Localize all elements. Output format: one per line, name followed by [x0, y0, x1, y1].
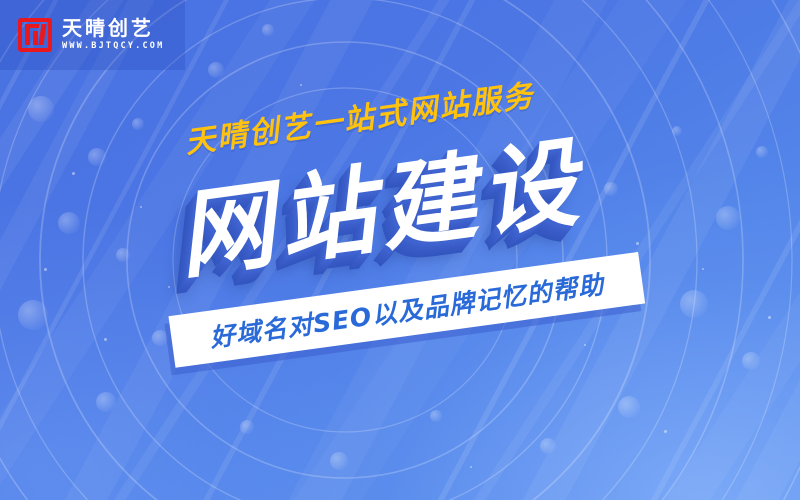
logo-website-url: WWW.BJTQCY.COM	[62, 40, 164, 52]
promo-banner: 天晴创艺 WWW.BJTQCY.COM 天晴创艺一站式网站服务 网站建设 好域名…	[0, 0, 800, 500]
tianqing-chuangyi-logo-mark-icon	[18, 18, 52, 52]
logo-text: 天晴创艺 WWW.BJTQCY.COM	[62, 18, 164, 52]
logo-brand-name: 天晴创艺	[62, 18, 164, 39]
logo-bar[interactable]: 天晴创艺 WWW.BJTQCY.COM	[0, 0, 185, 70]
headline-block: 天晴创艺一站式网站服务 网站建设 好域名对SEO以及品牌记忆的帮助	[0, 0, 800, 500]
